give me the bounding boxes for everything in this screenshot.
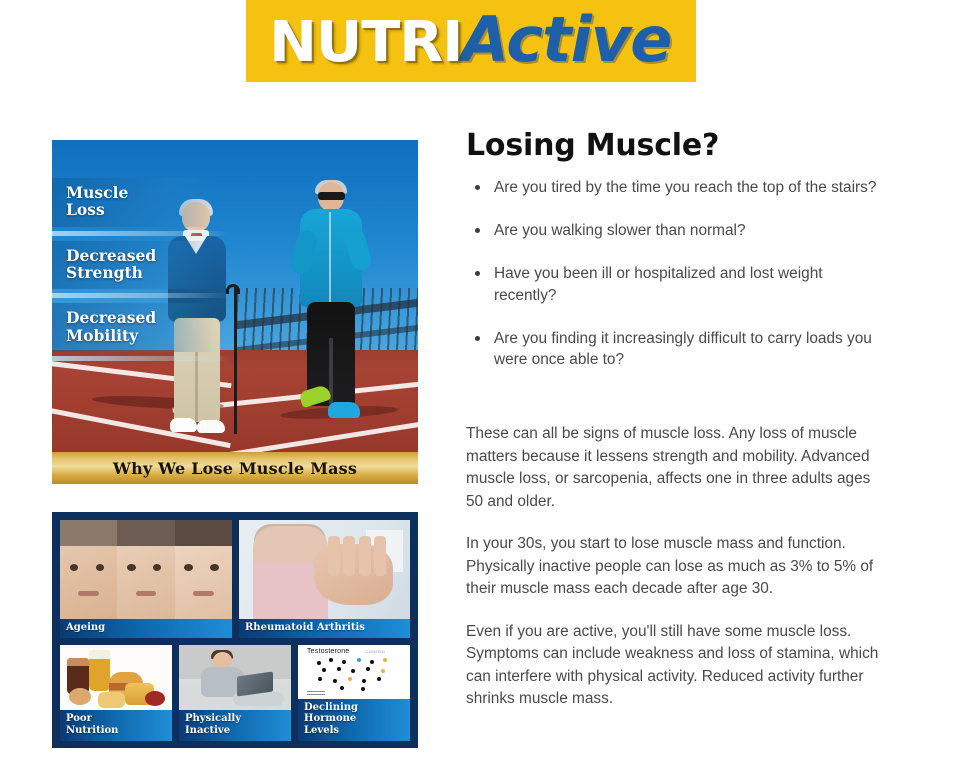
brand-logo-banner: NUTRIActive [246,0,696,82]
list-item: Are you tired by the time you reach the … [466,177,886,199]
hand-finger [374,536,386,576]
molecule-formula: C19H28O2 [365,649,385,654]
infographic-label-muscle-loss: Muscle Loss [52,178,214,227]
molecule-title: Testosterone [307,648,349,655]
face-older [60,520,117,619]
symptom-question-list: Are you tired by the time you reach the … [466,177,886,371]
ageing-thumbnail [60,520,232,619]
cause-label-ageing: Ageing [60,619,232,638]
atom [337,667,341,671]
molecule-atoms [309,655,401,691]
causes-row-bottom: Poor Nutrition [60,645,410,741]
atom [357,658,361,662]
muscle-loss-causes-panel: Ageing [52,512,418,748]
face-younger [175,520,232,619]
poor-nutrition-thumbnail [60,645,172,710]
face-eye-right [210,564,219,571]
hand-finger [359,536,371,576]
atom [322,668,326,672]
face-mouth [136,591,157,596]
physically-inactive-thumbnail [179,645,291,710]
list-item: Have you been ill or hospitalized and lo… [466,263,886,307]
hand-finger [343,536,355,576]
face-hair [117,520,174,546]
brand-name-secondary: Active [461,9,671,71]
label-line-1: Muscle [66,184,204,201]
face-hair [175,520,232,546]
label-line-1: Declining Hormone [304,702,404,726]
face-eye-left [70,564,79,571]
list-item: Are you walking slower than normal? [466,220,886,242]
cause-card-physically-inactive: Physically Inactive [179,645,291,741]
atom [333,679,337,683]
cause-label-declining-hormone-levels: Declining Hormone Levels [298,699,410,741]
face-middle [117,520,174,619]
label-line-2: Strength [66,264,204,281]
testosterone-molecule-image: Testosterone C19H28O2 [298,645,410,699]
atom [361,687,365,691]
cause-label-poor-nutrition: Poor Nutrition [60,710,172,741]
label-line-1: Poor [66,713,166,725]
label-line-2: Nutrition [66,725,166,737]
cause-card-poor-nutrition: Poor Nutrition [60,645,172,741]
face-mouth [193,591,214,596]
atom [317,661,321,665]
causes-row-top: Ageing [60,520,410,638]
molecule-footnote [307,690,325,695]
atom [342,660,346,664]
infographic-caption: Why We Lose Muscle Mass [52,452,418,484]
label-line-2: Levels [304,725,404,737]
body-paragraph: These can all be signs of muscle loss. A… [466,423,886,513]
donut [69,688,91,705]
arthritis-image [239,520,410,619]
ageing-faces-image [60,520,232,619]
label-line-1: Decreased [66,247,204,264]
junk-food-image [60,645,172,710]
label-line-1: Physically [185,713,285,725]
sunglasses-icon [318,192,345,200]
label-line-2: Mobility [66,327,204,344]
beer-glass [89,650,110,691]
label-line-2: Loss [66,201,204,218]
atom [362,679,366,683]
face-eye-right [96,564,105,571]
infographic-label-decreased-mobility: Decreased Mobility [52,303,214,352]
brand-logo-text: NUTRIActive [271,9,672,71]
face-eye-left [184,564,193,571]
elderly-shoe-right [197,420,225,433]
jogger-shoe-right [328,402,360,418]
face-eye-right [153,564,162,571]
hand-finger [328,536,340,576]
hormone-thumbnail: Testosterone C19H28O2 [298,645,410,699]
cause-card-declining-hormone-levels: Testosterone C19H28O2 [298,645,410,741]
atom [381,669,385,673]
jacket-zipper [329,212,331,304]
article-body: These can all be signs of muscle loss. A… [466,423,886,710]
body-paragraph: Even if you are active, you'll still hav… [466,621,886,711]
atom [377,677,381,681]
cause-label-physically-inactive: Physically Inactive [179,710,291,741]
man-on-sofa-image [179,645,291,710]
infographic-label-list: Muscle Loss Decreased Strength Decreased… [52,178,214,366]
atom [348,677,352,681]
page-title: Losing Muscle? [466,128,886,163]
infographic-label-decreased-strength: Decreased Strength [52,241,214,290]
label-line-1: Decreased [66,309,204,326]
atom [329,658,333,662]
list-item: Are you finding it increasingly difficul… [466,328,886,372]
jogging-man [296,182,370,444]
face-hair [60,520,117,546]
body-paragraph: In your 30s, you start to lose muscle ma… [466,533,886,600]
face-mouth [78,591,99,596]
atom [383,658,387,662]
chips [98,692,125,708]
page-root: NUTRIActive [0,0,956,772]
muscle-loss-infographic: Muscle Loss Decreased Strength Decreased… [52,140,418,484]
label-line-2: Inactive [185,725,285,737]
left-column: Muscle Loss Decreased Strength Decreased… [52,140,418,748]
atom [366,667,370,671]
atom [370,660,374,664]
cause-card-ageing: Ageing [60,520,232,638]
sauce-bowl [145,691,165,707]
atom [318,677,322,681]
man-head [213,652,232,669]
atom [340,686,344,690]
atom [351,669,355,673]
walking-cane [234,286,237,434]
elderly-shoe-left [170,418,197,432]
face-eye-left [127,564,136,571]
article-column: Losing Muscle? Are you tired by the time… [466,128,886,731]
brand-name-primary: NUTRI [269,15,462,71]
cause-card-rheumatoid-arthritis: Rheumatoid Arthritis [239,520,410,638]
arthritis-thumbnail [239,520,410,619]
cause-label-rheumatoid-arthritis: Rheumatoid Arthritis [239,619,410,638]
